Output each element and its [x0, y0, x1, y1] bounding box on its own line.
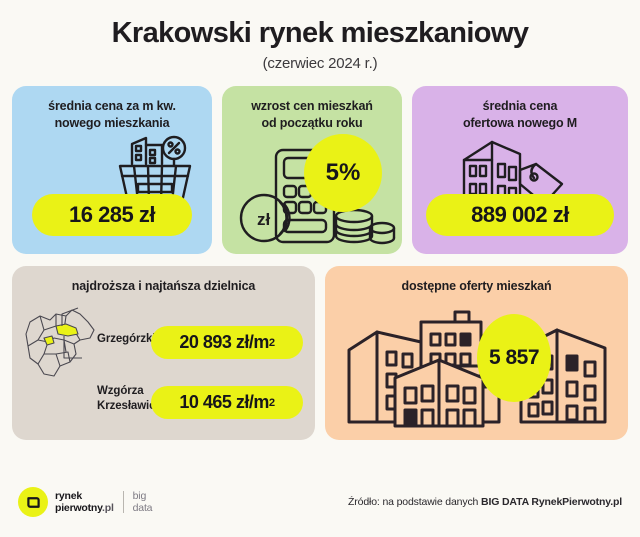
- card-avg-offer-price: średnia cena ofertowa nowego M: [412, 86, 628, 254]
- title-line-2: od początku roku: [261, 116, 362, 130]
- source-prefix: Źródło: na podstawie danych: [348, 496, 481, 508]
- source-note: Źródło: na podstawie danych BIG DATA Ryn…: [348, 496, 622, 508]
- title-line-2: ofertowa nowego M: [463, 116, 577, 130]
- card-price-growth-title: wzrost cen mieszkań od początku roku: [222, 86, 402, 132]
- district-value-most-expensive: 20 893 zł/m2: [151, 326, 303, 359]
- big-data-line-1: big: [133, 490, 146, 502]
- avg-price-sqm-value: 16 285 zł: [32, 194, 192, 236]
- title-line-1: średnia cena: [483, 99, 558, 113]
- price-growth-value: 5%: [304, 134, 382, 212]
- page-title: Krakowski rynek mieszkaniowy: [0, 18, 640, 48]
- district-rows: Grzegórzki 20 893 zł/m2 Wzgórza Krzesław…: [12, 304, 315, 432]
- district-value-sup: 2: [269, 397, 275, 409]
- footer: rynek pierwotny.pl big data Źródło: na p…: [0, 467, 640, 537]
- svg-text:zł: zł: [257, 210, 271, 229]
- brand-tld: .pl: [102, 502, 114, 514]
- district-label-line-1: Wzgórza: [97, 385, 144, 397]
- brand-line-1: rynek: [55, 490, 82, 502]
- infographic-root: Krakowski rynek mieszkaniowy (czerwiec 2…: [0, 0, 640, 537]
- card-avg-price-sqm-title: średnia cena za m kw. nowego mieszkania: [12, 86, 212, 132]
- card-avg-price-sqm: średnia cena za m kw. nowego mieszkania: [12, 86, 212, 254]
- page-subtitle: (czerwiec 2024 r.): [0, 55, 640, 72]
- big-data-line-2: data: [133, 502, 153, 514]
- district-label-line-1: Grzegórzki: [97, 333, 155, 345]
- logo-divider: [123, 491, 124, 513]
- cards-row-bottom: najdroższa i najtańsza dzielnica: [0, 266, 640, 440]
- card-districts: najdroższa i najtańsza dzielnica: [12, 266, 315, 440]
- big-data-label: big data: [133, 490, 153, 514]
- available-offers-value: 5 857: [477, 314, 551, 402]
- card-districts-title: najdroższa i najtańsza dzielnica: [12, 266, 315, 295]
- title-line-1: wzrost cen mieszkań: [251, 99, 373, 113]
- card-available-offers: dostępne oferty mieszkań: [325, 266, 628, 440]
- source-bold: BIG DATA RynekPierwotny.pl: [481, 496, 622, 508]
- district-value-text: 10 465 zł/m: [179, 392, 269, 413]
- brand-line-2: pierwotny: [55, 502, 102, 514]
- brand-logo-text: rynek pierwotny.pl: [55, 490, 114, 514]
- rynek-pierwotny-logo-icon: [18, 487, 48, 517]
- avg-offer-price-value: 889 002 zł: [426, 194, 614, 236]
- header: Krakowski rynek mieszkaniowy (czerwiec 2…: [0, 0, 640, 72]
- district-value-cheapest: 10 465 zł/m2: [151, 386, 303, 419]
- card-available-offers-title: dostępne oferty mieszkań: [325, 266, 628, 295]
- title-line-1: średnia cena za m kw.: [48, 99, 176, 113]
- district-value-sup: 2: [269, 337, 275, 349]
- brand-logo[interactable]: rynek pierwotny.pl big data: [18, 487, 152, 517]
- cards-row-top: średnia cena za m kw. nowego mieszkania: [0, 86, 640, 254]
- title-line-2: nowego mieszkania: [55, 116, 170, 130]
- card-avg-offer-price-title: średnia cena ofertowa nowego M: [412, 86, 628, 132]
- district-value-text: 20 893 zł/m: [179, 332, 269, 353]
- district-label-most-expensive: Grzegórzki: [97, 332, 155, 346]
- card-price-growth: wzrost cen mieszkań od początku roku: [222, 86, 402, 254]
